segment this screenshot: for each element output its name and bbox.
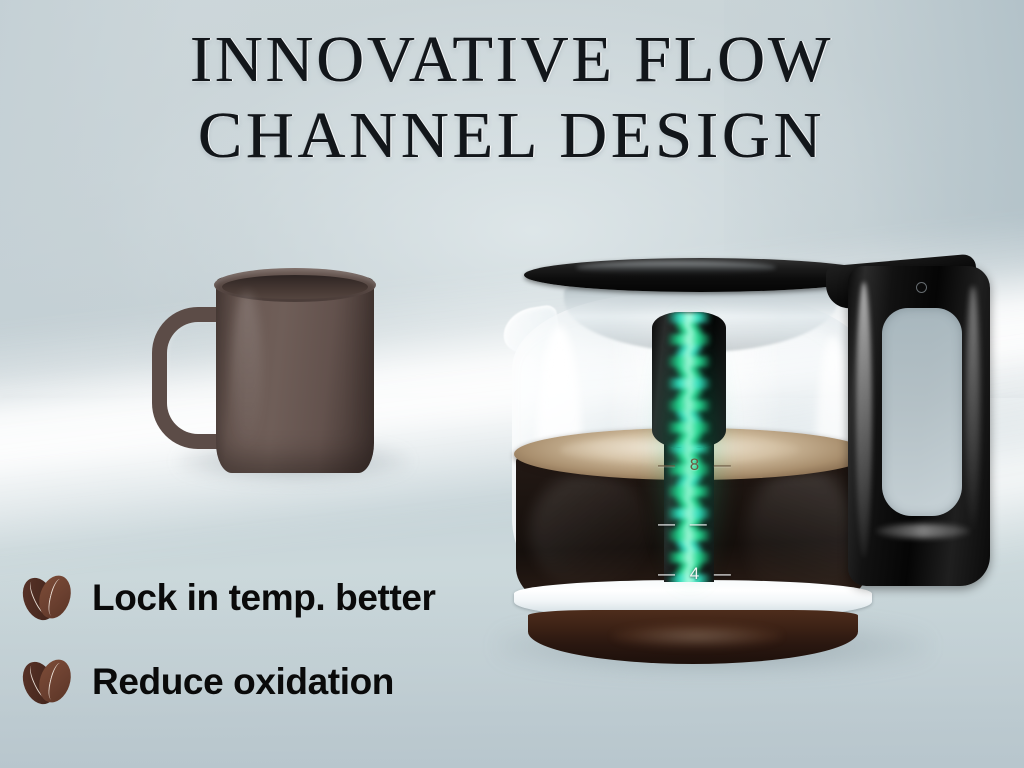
feature-label-1: Lock in temp. better [92, 577, 436, 619]
carafe-handle-opening [882, 308, 962, 516]
coffee-bean-icon [22, 572, 80, 624]
flow-channel-helix-upper [666, 312, 712, 448]
handle-highlight-inner [856, 282, 872, 558]
flow-channel-segment [667, 356, 711, 367]
flow-channel-segment [667, 312, 711, 323]
carafe-base-highlight [612, 624, 782, 648]
handle-highlight-outer [966, 286, 980, 536]
flow-channel-segment [667, 400, 711, 411]
coffee-highlight-left [530, 472, 650, 592]
glass-coffee-carafe: — 8 — — — — 4 — [500, 252, 1000, 662]
mug-highlight [232, 291, 262, 455]
poster-canvas: INNOVATIVE FLOW CHANNEL DESIGN [0, 0, 1024, 768]
measurement-mark-8: — 8 — [658, 455, 736, 475]
title-line-2: CHANNEL DESIGN [0, 98, 1024, 174]
list-item: Lock in temp. better [22, 556, 436, 640]
coffee-bean-icon [22, 656, 80, 708]
flow-channel-segment [672, 497, 705, 508]
flow-channel-segment [672, 411, 705, 422]
lid-highlight [576, 261, 776, 274]
flow-channel-segment [667, 552, 711, 563]
coffee-bean-crease [46, 577, 67, 617]
flow-channel-segment [667, 422, 711, 433]
flow-channel-segment [667, 486, 711, 497]
list-item: Reduce oxidation [22, 640, 436, 724]
flow-channel-segment [672, 345, 705, 356]
flow-channel-segment [672, 433, 705, 444]
flow-channel-segment [667, 378, 711, 389]
handle-highlight-bottom [876, 524, 970, 538]
page-title: INNOVATIVE FLOW CHANNEL DESIGN [0, 22, 1024, 174]
feature-list: Lock in temp. better Reduce oxidation [22, 556, 436, 724]
flow-channel-segment [672, 367, 705, 378]
flow-channel-segment [667, 444, 711, 448]
flow-channel-segment [672, 475, 705, 486]
flow-channel-housing [652, 312, 726, 448]
title-line-1: INNOVATIVE FLOW [0, 22, 1024, 98]
flow-channel-segment [672, 541, 705, 552]
ceramic-mug [196, 277, 374, 475]
handle-screw-icon [916, 282, 927, 293]
feature-label-2: Reduce oxidation [92, 661, 394, 703]
measurement-mark-6: — — [658, 514, 712, 534]
flow-channel-segment [667, 334, 711, 345]
flow-channel-segment [672, 323, 705, 334]
measurement-mark-4: — 4 — [658, 564, 736, 584]
coffee-bean-crease [46, 661, 67, 701]
flow-channel-segment [672, 389, 705, 400]
